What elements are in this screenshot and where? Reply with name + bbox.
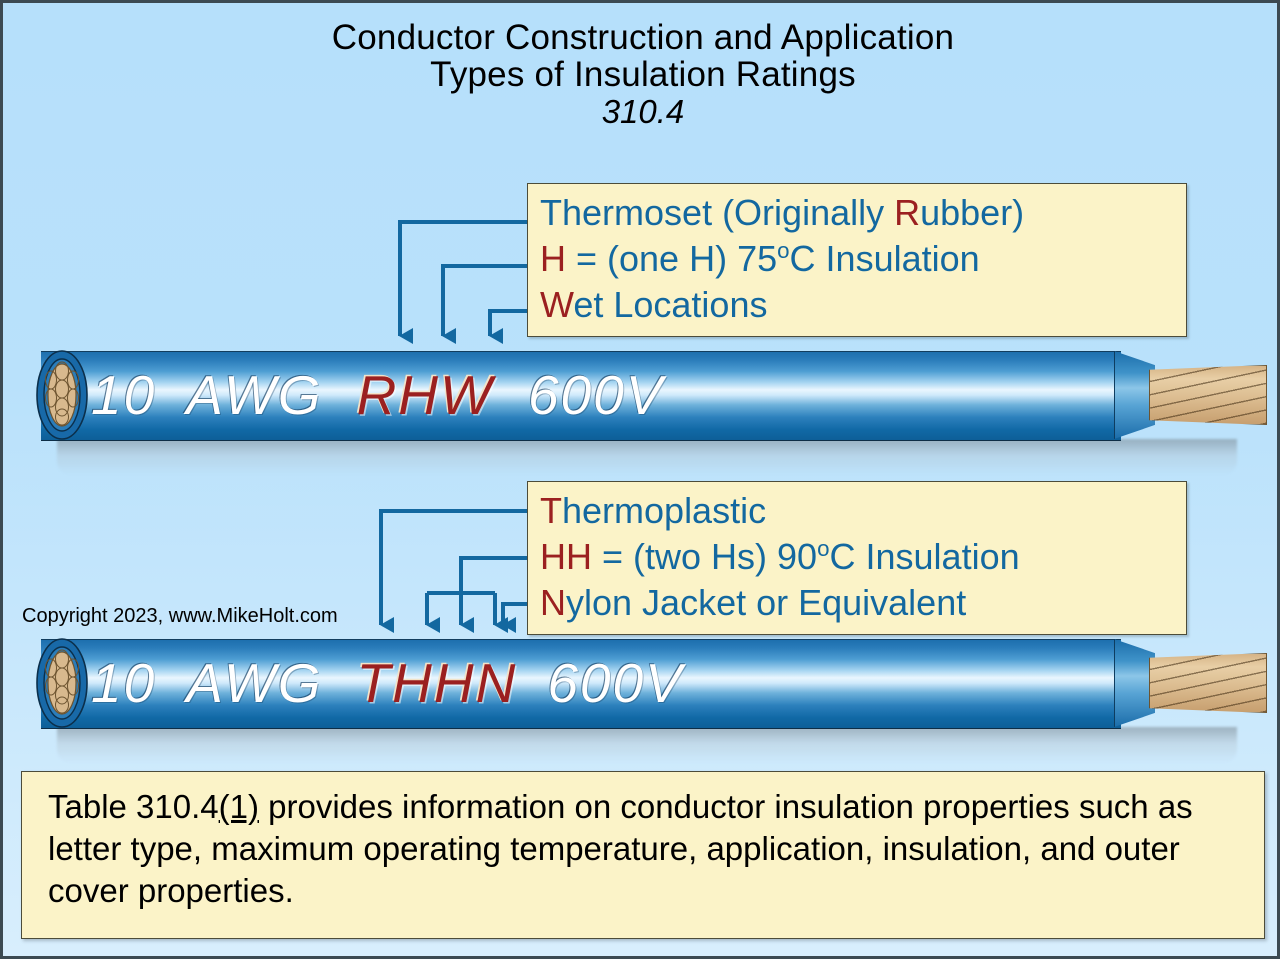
thermoset-callout: Thermoset (Originally Rubber) H = (one H… bbox=[527, 183, 1187, 337]
copper-strands bbox=[1149, 653, 1267, 713]
wire1-size: 10 bbox=[91, 363, 156, 427]
title-line-2: Types of Insulation Ratings bbox=[3, 56, 1280, 93]
wire2-marking: 10AWGTHHN600V bbox=[91, 641, 1091, 725]
callout2-line-2: HH = (two Hs) 90oC Insulation bbox=[540, 534, 1176, 580]
wire-shadow bbox=[57, 727, 1237, 763]
callout1-line-1: Thermoset (Originally Rubber) bbox=[540, 190, 1176, 236]
copyright-notice: Copyright 2023, www.MikeHolt.com bbox=[22, 605, 338, 628]
callout2-line-1: Thermoplastic bbox=[540, 488, 1176, 534]
wire1-unit: AWG bbox=[186, 363, 322, 427]
callout2-line-3: Nylon Jacket or Equivalent bbox=[540, 580, 1176, 626]
wire2-size: 10 bbox=[91, 651, 156, 715]
title-line-1: Conductor Construction and Application bbox=[3, 19, 1280, 56]
copper-strands bbox=[1149, 365, 1267, 425]
wire1-marking: 10AWGRHW600V bbox=[91, 353, 1091, 437]
wire1-voltage: 600V bbox=[528, 363, 664, 427]
thermoplastic-callout: Thermoplastic HH = (two Hs) 90oC Insulat… bbox=[527, 481, 1187, 635]
thhn-conductor: 10AWGTHHN600V bbox=[21, 631, 1265, 771]
wire-insulation-tip bbox=[1114, 639, 1155, 727]
wire2-unit: AWG bbox=[186, 651, 322, 715]
callout1-line-3: Wet Locations bbox=[540, 282, 1176, 328]
page-title: Conductor Construction and Application T… bbox=[3, 19, 1280, 130]
note-pre: Table 310.4 bbox=[48, 788, 219, 825]
slide-canvas: Conductor Construction and Application T… bbox=[0, 0, 1280, 959]
wire2-voltage: 600V bbox=[547, 651, 683, 715]
title-line-3: 310.4 bbox=[3, 95, 1280, 130]
wire-shadow bbox=[57, 439, 1237, 475]
conductor-cross-section-icon bbox=[35, 637, 89, 729]
wire-insulation-tip bbox=[1114, 351, 1155, 439]
wire2-type: THHN bbox=[357, 651, 518, 715]
callout1-line-2: H = (one H) 75oC Insulation bbox=[540, 236, 1176, 282]
wire1-type: RHW bbox=[357, 363, 494, 427]
note-underlined: (1) bbox=[219, 788, 259, 825]
table-reference-note: Table 310.4(1) provides information on c… bbox=[21, 771, 1265, 939]
conductor-cross-section-icon bbox=[35, 349, 89, 441]
rhw-conductor: 10AWGRHW600V bbox=[21, 343, 1265, 483]
